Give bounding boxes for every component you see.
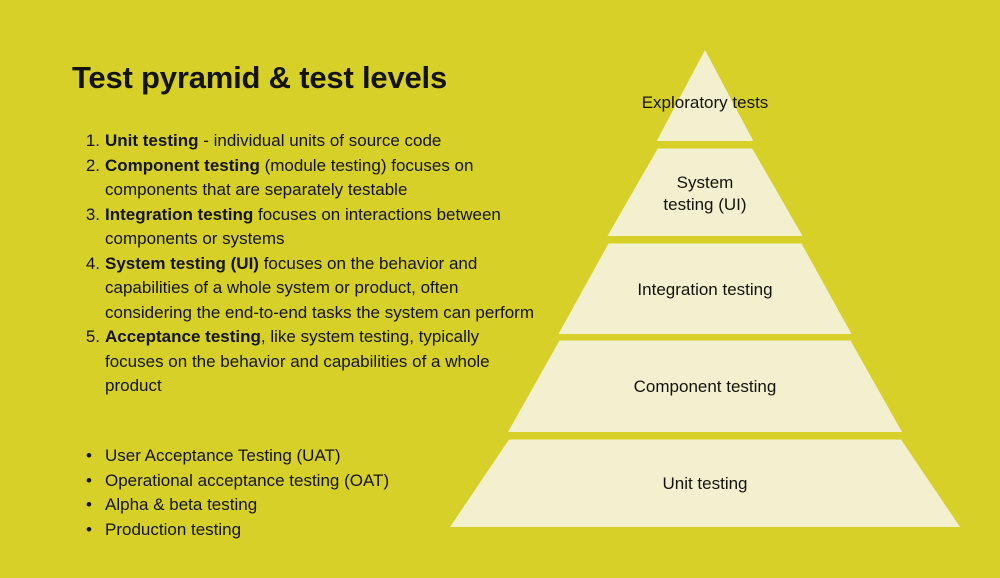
bullet-icon: • — [86, 469, 92, 494]
list-item-term: Unit testing — [105, 131, 199, 150]
list-item-term: Component testing — [105, 156, 260, 175]
pyramid-tier-integration-testing[interactable] — [559, 244, 852, 335]
list-item-number: 1. — [78, 129, 100, 154]
slide-canvas: Test pyramid & test levels 1.Unit testin… — [0, 0, 1000, 578]
pyramid-tier-exploratory[interactable] — [657, 50, 754, 141]
list-item-label: Operational acceptance testing (OAT) — [105, 471, 389, 490]
list-item-term: Integration testing — [105, 205, 253, 224]
bullet-icon: • — [86, 493, 92, 518]
list-item-number: 5. — [78, 325, 100, 350]
list-item-description: - individual units of source code — [199, 131, 442, 150]
pyramid-tier-unit-testing[interactable] — [450, 440, 960, 528]
list-item-number: 4. — [78, 252, 100, 277]
bullet-icon: • — [86, 444, 92, 469]
list-item-label: User Acceptance Testing (UAT) — [105, 446, 341, 465]
list-item-number: 2. — [78, 154, 100, 179]
list-item-label: Alpha & beta testing — [105, 495, 257, 514]
page-title: Test pyramid & test levels — [72, 60, 447, 96]
pyramid-tier-component-testing[interactable] — [508, 341, 902, 433]
test-pyramid-diagram: Exploratory tests System testing (UI) In… — [430, 0, 1000, 578]
bullet-icon: • — [86, 518, 92, 543]
list-item-term: System testing (UI) — [105, 254, 259, 273]
list-item-term: Acceptance testing — [105, 327, 261, 346]
pyramid-tier-system-testing[interactable] — [608, 149, 803, 237]
list-item-label: Production testing — [105, 520, 241, 539]
pyramid-shape — [430, 0, 1000, 578]
list-item-number: 3. — [78, 203, 100, 228]
